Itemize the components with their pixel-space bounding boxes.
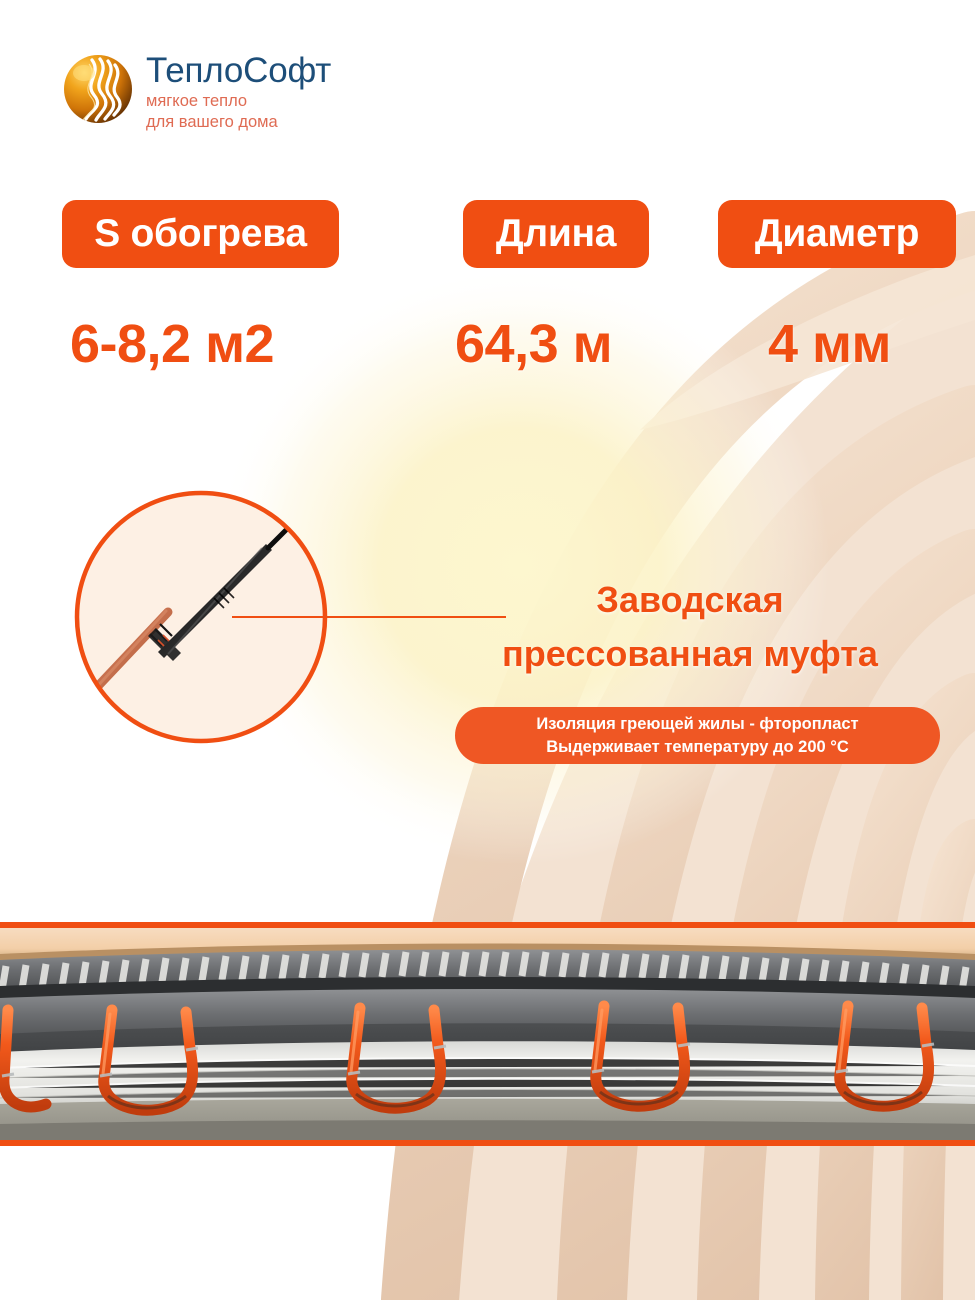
spec-badge-length: Длина [463,200,649,268]
brand-tagline-line2: для вашего дома [146,113,386,133]
floor-cross-section-illustration [0,928,975,1140]
brand-wordmark: ТеплоСофт мягкое тепло для вашего дома [146,50,386,132]
spec-value-diameter: 4 мм [768,313,891,375]
info-line-1: Изоляция греющей жилы - фторопласт [536,713,858,736]
infographic-page: ТеплоСофт мягкое тепло для вашего дома S… [0,0,975,1300]
brand-logo: ТеплоСофт мягкое тепло для вашего дома [62,50,382,140]
heating-cable-floor-photo [0,922,975,1146]
brand-title: ТеплоСофт [146,50,386,91]
insulation-info-pill: Изоляция греющей жилы - фторопласт Выдер… [455,707,940,764]
spec-value-length: 64,3 м [455,313,612,375]
spec-value-area: 6-8,2 м2 [70,313,274,375]
callout-line-2: прессованная муфта [440,627,940,681]
spec-badge-area: S обогрева [62,200,339,268]
sphere-waves-logo-icon [62,53,134,125]
callout-line-1: Заводская [440,573,940,627]
callout-heading: Заводская прессованная муфта [440,573,940,681]
brand-tagline-line1: мягкое тепло [146,92,386,112]
info-line-2: Выдерживает температуру до 200 °C [546,736,849,759]
spec-badge-diameter: Диаметр [718,200,956,268]
